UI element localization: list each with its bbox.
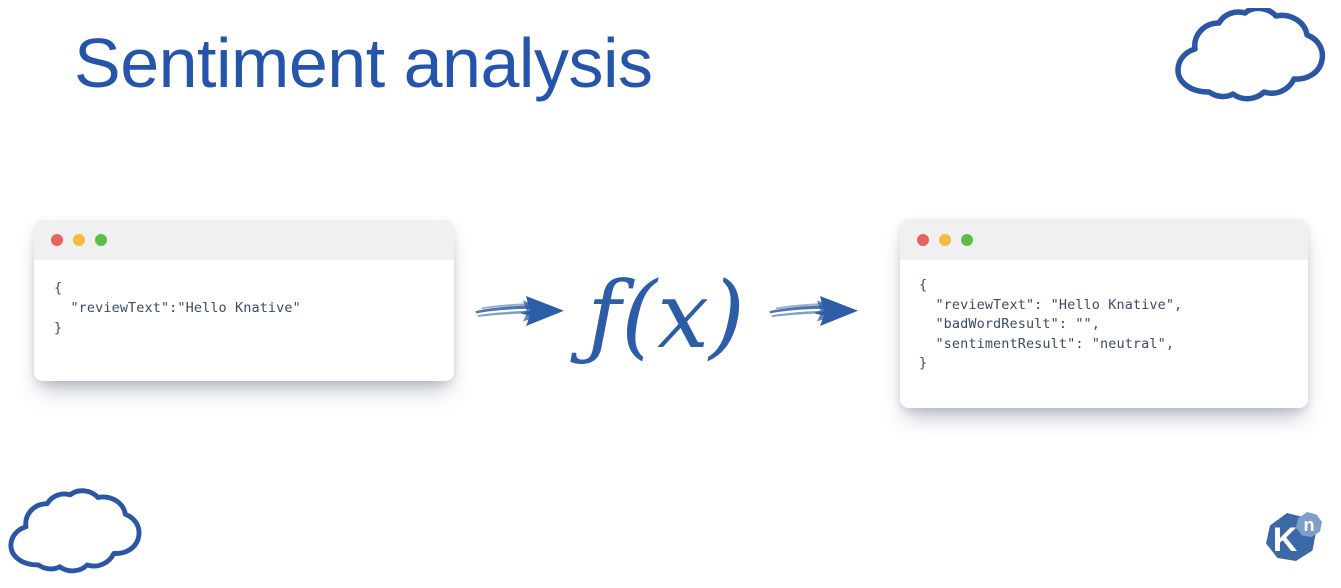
window-titlebar <box>900 219 1308 260</box>
input-payload-window[interactable]: { "reviewText":"Hello Knative" } <box>34 220 454 381</box>
minimize-window-dot[interactable] <box>939 234 951 246</box>
output-payload-window[interactable]: { "reviewText": "Hello Knative", "badWor… <box>900 219 1308 408</box>
cloud-top-right-icon <box>1168 8 1328 109</box>
window-titlebar <box>34 220 454 260</box>
zoom-window-dot[interactable] <box>95 234 107 246</box>
page-title: Sentiment analysis <box>74 28 653 98</box>
output-json-code: { "reviewText": "Hello Knative", "badWor… <box>919 276 1308 374</box>
cloud-bottom-left-icon <box>2 483 144 588</box>
input-json-code: { "reviewText":"Hello Knative" } <box>54 278 454 338</box>
arrow-right-in-icon <box>474 292 566 337</box>
window-body: { "reviewText": "Hello Knative", "badWor… <box>900 260 1308 374</box>
knative-letter-k: K <box>1273 521 1298 559</box>
function-symbol: ƒ(x) <box>566 246 766 386</box>
close-window-dot[interactable] <box>51 234 63 246</box>
close-window-dot[interactable] <box>917 234 929 246</box>
zoom-window-dot[interactable] <box>961 234 973 246</box>
knative-letter-n: n <box>1304 515 1315 535</box>
arrow-right-out-icon <box>768 292 860 337</box>
knative-logo: K n <box>1258 509 1326 580</box>
minimize-window-dot[interactable] <box>73 234 85 246</box>
window-body: { "reviewText":"Hello Knative" } <box>34 260 454 338</box>
transform-flow: ƒ(x) <box>470 250 880 390</box>
